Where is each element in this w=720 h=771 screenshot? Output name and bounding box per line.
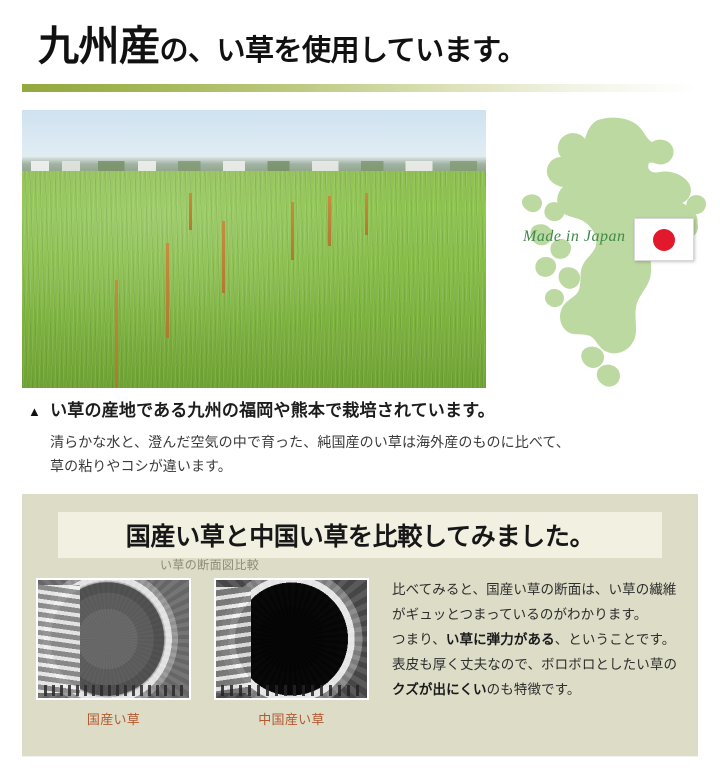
photo-grass-field — [22, 171, 486, 388]
field-stake — [115, 280, 118, 388]
comparison-line-4: 表皮も厚く丈夫なので、ボロボロとしたい草の — [392, 653, 688, 678]
caption-body-line-2: 草の粘りやコシが違います。 — [50, 454, 720, 478]
field-stake — [291, 202, 294, 260]
flag-red-disc — [653, 229, 675, 251]
igusa-field-photo — [22, 110, 486, 388]
comparison-line-3: つまり、い草に弾力がある、ということです。 — [392, 628, 688, 653]
comparison-description: 比べてみると、国産い草の断面は、い草の繊維 がギュッとつまっているのがわかります… — [392, 578, 688, 703]
figure-caption-chinese: 中国産い草 — [214, 709, 369, 728]
comparison-line-5: クズが出にくいのも特徴です。 — [392, 678, 688, 703]
field-stake — [189, 193, 192, 229]
japan-flag-icon — [634, 218, 694, 261]
comparison-panel: 国産い草と中国い草を比較してみました。 い草の断面図比較 国産い草 中国産い草 … — [22, 494, 698, 756]
chinese-igusa-cross-section-image — [214, 578, 369, 700]
comparison-line-3-post: 、ということです。 — [555, 632, 676, 647]
comparison-emphasis-no-debris: クズが出にくい — [392, 682, 487, 697]
page-title: 九州産の、い草を使用しています。 — [38, 26, 526, 67]
field-stake — [365, 193, 368, 235]
cross-section-label: い草の断面図比較 — [160, 556, 259, 573]
comparison-title-band: 国産い草と中国い草を比較してみました。 — [58, 512, 662, 558]
field-stake — [166, 243, 169, 338]
figure-chinese-igusa: 中国産い草 — [214, 578, 369, 728]
caption-body-line-1: 清らかな水と、澄んだ空気の中で育った、純国産のい草は海外産のものに比べて、 — [50, 430, 720, 454]
title-divider-rule — [22, 84, 698, 92]
comparison-line-3-pre: つまり、 — [392, 632, 446, 647]
field-stake — [328, 196, 331, 246]
comparison-title: 国産い草と中国い草を比較してみました。 — [126, 517, 595, 553]
field-stake — [222, 221, 225, 293]
made-in-japan-label: Made in Japan — [523, 228, 625, 246]
domestic-igusa-cross-section-image — [36, 578, 191, 700]
hero-section: Made in Japan — [0, 100, 720, 400]
caption-headline: ▲ い草の産地である九州の福岡や熊本で栽培されています。 — [28, 396, 720, 421]
page-title-strong: 九州産 — [38, 23, 160, 69]
figure-domestic-igusa: 国産い草 — [36, 578, 191, 728]
comparison-line-1: 比べてみると、国産い草の断面は、い草の繊維 — [392, 578, 688, 603]
comparison-line-5-post: のも特徴です。 — [487, 682, 581, 697]
micrograph-chinese — [216, 580, 367, 698]
micrograph-domestic — [38, 580, 189, 698]
comparison-emphasis-elasticity: い草に弾力がある — [446, 632, 555, 647]
caption-headline-text: い草の産地である九州の福岡や熊本で栽培されています。 — [50, 396, 495, 421]
comparison-line-2: がギュッとつまっているのがわかります。 — [392, 603, 688, 628]
caption-body: 清らかな水と、澄んだ空気の中で育った、純国産のい草は海外産のものに比べて、 草の… — [50, 430, 720, 478]
figure-caption-domestic: 国産い草 — [36, 709, 191, 728]
photo-caption-block: ▲ い草の産地である九州の福岡や熊本で栽培されています。 清らかな水と、澄んだ空… — [0, 396, 720, 478]
page-title-rest: の、い草を使用しています。 — [160, 35, 527, 67]
triangle-bullet-icon: ▲ — [28, 405, 41, 418]
